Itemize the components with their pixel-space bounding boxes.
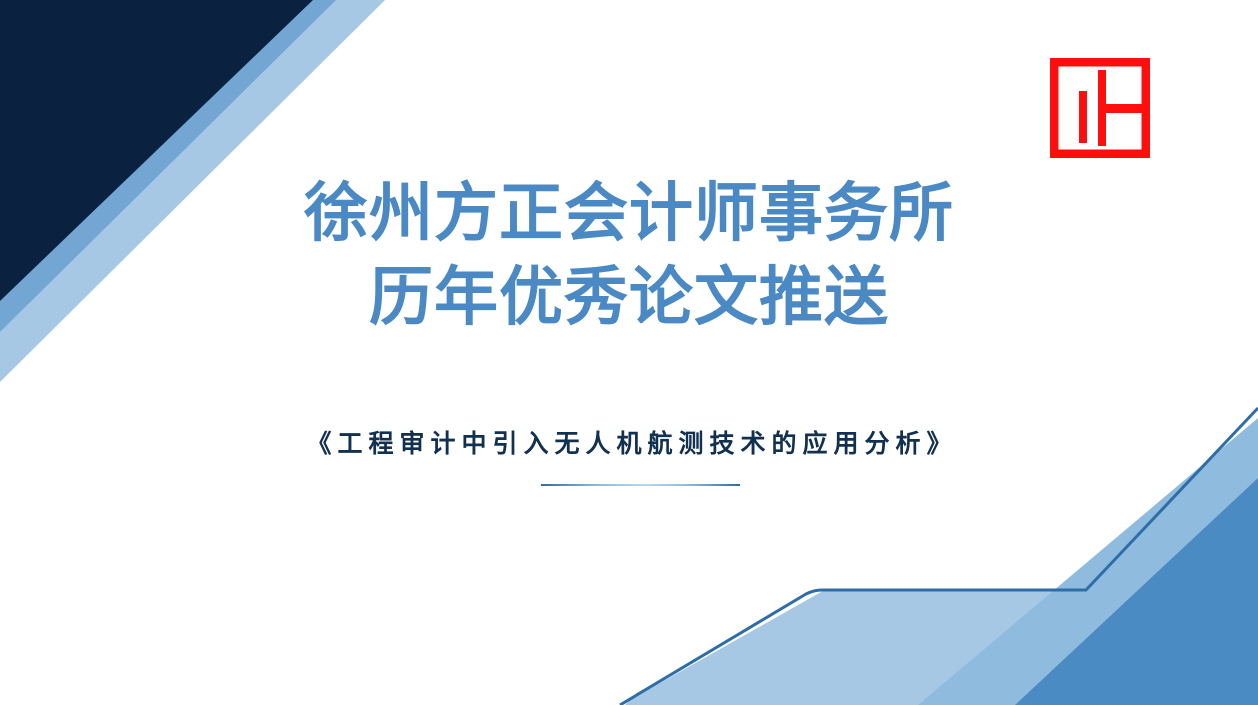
accent-blue-wedge — [1015, 478, 1258, 705]
logo-center-divider — [1098, 70, 1106, 146]
page-title: 徐州方正会计师事务所 历年优秀论文推送 — [0, 178, 1258, 333]
medium-blue-wedge — [918, 418, 1258, 705]
logo-left-stem — [1079, 91, 1087, 143]
light-blue-banner-fill — [625, 475, 1258, 705]
logo-right-crossbar — [1106, 104, 1142, 113]
company-logo-mark — [1050, 58, 1150, 158]
title-line-2: 历年优秀论文推送 — [0, 262, 1258, 334]
paper-subtitle: 《工程审计中引入无人机航测技术的应用分析》 — [0, 424, 1258, 460]
title-line-1: 徐州方正会计师事务所 — [0, 178, 1258, 250]
title-divider — [541, 484, 740, 486]
presentation-slide: 徐州方正会计师事务所 历年优秀论文推送 《工程审计中引入无人机航测技术的应用分析… — [0, 0, 1258, 705]
